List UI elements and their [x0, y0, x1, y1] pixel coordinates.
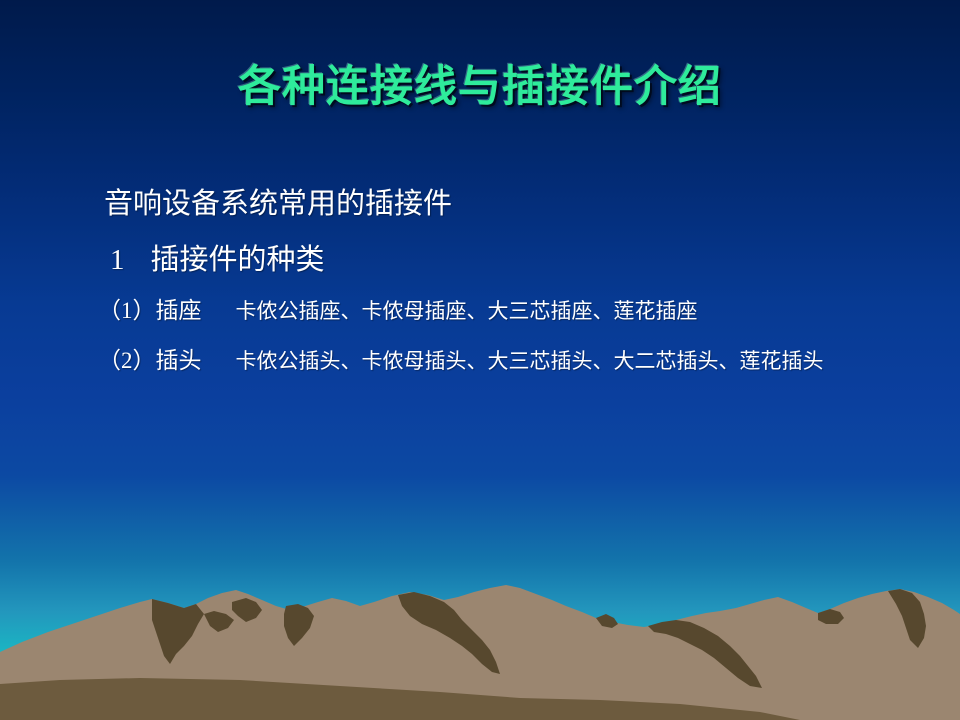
slide-body: 音响设备系统常用的插接件 1插接件的种类 （1）插座卡侬公插座、卡侬母插座、大三…	[96, 186, 946, 396]
presentation-slide: 各种连接线与插接件介绍 音响设备系统常用的插接件 1插接件的种类 （1）插座卡侬…	[0, 0, 960, 720]
numbered-item-number: 1	[110, 244, 125, 276]
list-item-1-detail: 卡侬公插座、卡侬母插座、大三芯插座、莲花插座	[236, 299, 698, 323]
slide-title: 各种连接线与插接件介绍	[0, 62, 960, 114]
list-item-1-lead: （1）插座	[98, 298, 202, 323]
list-item-2-detail: 卡侬公插头、卡侬母插头、大三芯插头、大二芯插头、莲花插头	[236, 349, 824, 373]
body-heading: 音响设备系统常用的插接件	[96, 186, 946, 222]
numbered-item-text: 插接件的种类	[151, 244, 325, 276]
body-list-item-1: （1）插座卡侬公插座、卡侬母插座、大三芯插座、莲花插座	[96, 296, 946, 326]
list-item-2-lead: （2）插头	[98, 348, 202, 373]
body-list-item-2: （2）插头卡侬公插头、卡侬母插头、大三芯插头、大二芯插头、莲花插头	[96, 346, 946, 376]
mountain-scenery-graphic	[0, 580, 960, 720]
body-numbered-item: 1插接件的种类	[96, 242, 946, 278]
